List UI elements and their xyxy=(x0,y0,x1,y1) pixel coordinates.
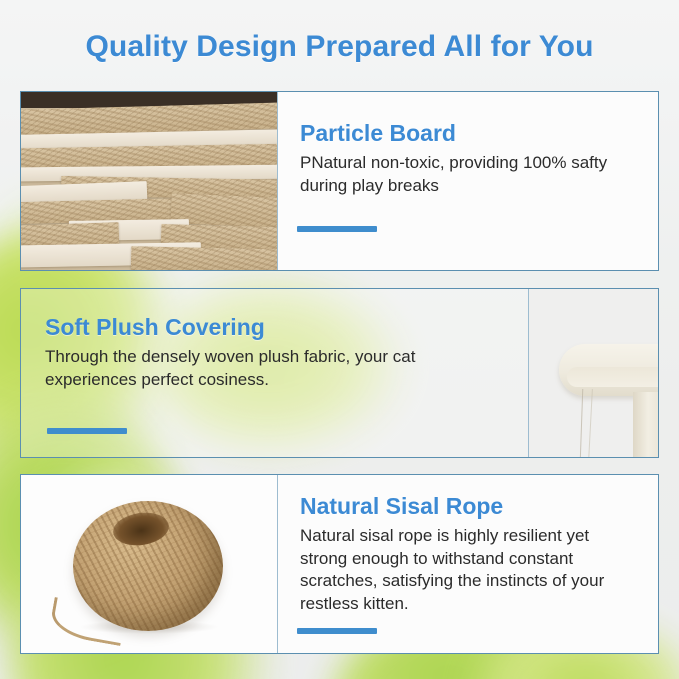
particle-board-artwork xyxy=(21,92,277,270)
card-headline: Particle Board xyxy=(300,120,632,146)
card-body-text: Natural sisal rope is highly resilient y… xyxy=(300,525,636,615)
board-plank xyxy=(131,246,277,270)
sisal-rope-copy: Natural Sisal Rope Natural sisal rope is… xyxy=(277,475,658,653)
feature-page: Quality Design Prepared All for You xyxy=(0,0,679,679)
sisal-rope-image xyxy=(21,475,277,653)
card-headline: Soft Plush Covering xyxy=(45,314,508,340)
card-headline: Natural Sisal Rope xyxy=(300,493,636,519)
feature-card-natural-sisal-rope: Natural Sisal Rope Natural sisal rope is… xyxy=(20,474,659,654)
card-body-text: Through the densely woven plush fabric, … xyxy=(45,346,508,391)
accent-rule xyxy=(297,226,377,232)
plush-cat-tree-artwork xyxy=(529,289,658,457)
accent-rule xyxy=(297,628,377,634)
soft-plush-image xyxy=(529,289,658,457)
feature-card-particle-board: Particle Board PNatural non-toxic, provi… xyxy=(20,91,659,271)
accent-rule xyxy=(47,428,127,434)
sisal-rope-artwork xyxy=(21,475,277,653)
particle-board-copy: Particle Board PNatural non-toxic, provi… xyxy=(277,92,658,270)
card-body-text: PNatural non-toxic, providing 100% safty… xyxy=(300,152,632,197)
support-post xyxy=(633,392,658,457)
particle-board-image xyxy=(21,92,277,270)
hanging-string xyxy=(580,389,584,457)
perch-lip xyxy=(567,367,658,387)
hanging-string xyxy=(588,389,593,457)
page-title: Quality Design Prepared All for You xyxy=(0,30,679,64)
